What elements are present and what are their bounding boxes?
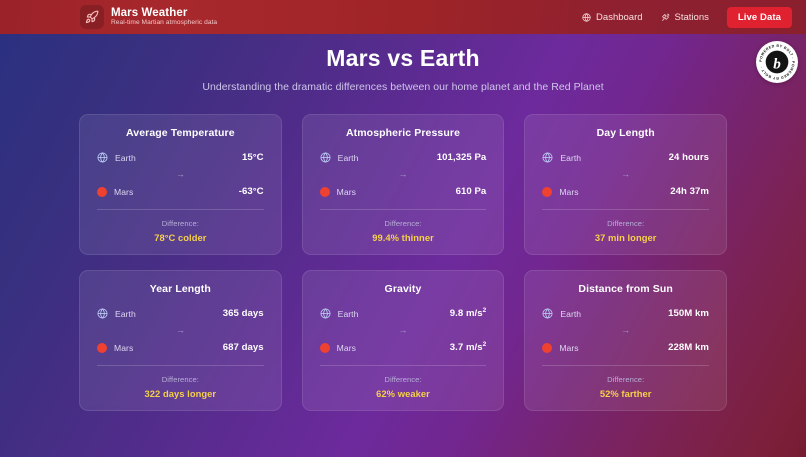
earth-row: Earth 150M km xyxy=(542,308,709,319)
earth-value: 24 hours xyxy=(669,152,709,163)
mars-row: Mars 24h 37m xyxy=(542,186,709,197)
difference-value: 37 min longer xyxy=(542,232,709,243)
difference-value: 78°C colder xyxy=(97,232,264,243)
card-divider xyxy=(320,209,487,210)
earth-value: 150M km xyxy=(668,308,709,319)
page-title: Mars vs Earth xyxy=(0,45,806,72)
mars-icon xyxy=(320,187,330,197)
comparison-card: Average Temperature Earth 15°C → Mars xyxy=(79,114,282,255)
earth-row: Earth 365 days xyxy=(97,308,264,319)
satellite-icon xyxy=(661,13,670,22)
mars-icon xyxy=(320,343,330,353)
mars-value: 228M km xyxy=(668,342,709,353)
mars-icon xyxy=(542,187,552,197)
card-divider xyxy=(320,365,487,366)
earth-label: Earth xyxy=(115,153,136,163)
nav-item-dashboard-label: Dashboard xyxy=(596,12,642,23)
mars-value: 610 Pa xyxy=(456,186,487,197)
live-data-button[interactable]: Live Data xyxy=(727,7,792,28)
earth-row: Earth 101,325 Pa xyxy=(320,152,487,163)
card-divider xyxy=(97,209,264,210)
mars-value: 24h 37m xyxy=(670,186,709,197)
difference-label: Difference: xyxy=(97,375,264,384)
card-divider xyxy=(542,365,709,366)
earth-label: Earth xyxy=(560,153,581,163)
made-with-bolt-badge[interactable]: POWERED BY BOLT · POWERED BY BOLT · b xyxy=(756,41,798,83)
mars-row: Mars 228M km xyxy=(542,342,709,353)
nav-item-stations[interactable]: Stations xyxy=(661,12,709,23)
brand-subtitle: Real-time Martian atmospheric data xyxy=(111,20,217,27)
earth-value: 365 days xyxy=(223,308,264,319)
earth-icon xyxy=(97,152,108,163)
earth-value: 15°C xyxy=(242,152,264,163)
comparison-card: Day Length Earth 24 hours → Mars 2 xyxy=(524,114,727,255)
card-title: Year Length xyxy=(97,283,264,295)
comparison-arrow-icon: → xyxy=(97,319,264,342)
bolt-badge-icon: POWERED BY BOLT · POWERED BY BOLT · b xyxy=(756,41,798,83)
difference-label: Difference: xyxy=(542,375,709,384)
mars-label: Mars xyxy=(559,343,578,353)
app-header: Mars Weather Real-time Martian atmospher… xyxy=(0,0,806,34)
earth-value: 9.8 m/s2 xyxy=(450,308,487,319)
mars-row: Mars 687 days xyxy=(97,342,264,353)
mars-label: Mars xyxy=(114,343,133,353)
card-title: Average Temperature xyxy=(97,127,264,139)
mars-value: -63°C xyxy=(239,186,264,197)
nav-item-stations-label: Stations xyxy=(675,12,709,23)
card-title: Day Length xyxy=(542,127,709,139)
difference-label: Difference: xyxy=(320,219,487,228)
card-title: Gravity xyxy=(320,283,487,295)
earth-icon xyxy=(320,308,331,319)
mars-label: Mars xyxy=(559,187,578,197)
earth-label: Earth xyxy=(338,153,359,163)
mars-icon xyxy=(97,343,107,353)
globe-icon xyxy=(582,13,591,22)
earth-label: Earth xyxy=(560,309,581,319)
card-title: Atmospheric Pressure xyxy=(320,127,487,139)
main-nav: Dashboard Stations Live Data xyxy=(582,7,792,28)
difference-value: 99.4% thinner xyxy=(320,232,487,243)
earth-label: Earth xyxy=(338,309,359,319)
card-divider xyxy=(542,209,709,210)
nav-item-dashboard[interactable]: Dashboard xyxy=(582,12,642,23)
comparison-card: Distance from Sun Earth 150M km → Mars xyxy=(524,270,727,411)
mars-icon xyxy=(542,343,552,353)
brand-title: Mars Weather xyxy=(111,7,217,19)
comparison-card: Atmospheric Pressure Earth 101,325 Pa → … xyxy=(302,114,505,255)
comparison-arrow-icon: → xyxy=(542,319,709,342)
earth-row: Earth 9.8 m/s2 xyxy=(320,308,487,319)
difference-value: 322 days longer xyxy=(97,388,264,399)
comparison-card: Year Length Earth 365 days → Mars xyxy=(79,270,282,411)
mars-row: Mars -63°C xyxy=(97,186,264,197)
rocket-icon xyxy=(80,5,104,29)
comparison-arrow-icon: → xyxy=(97,163,264,186)
mars-icon xyxy=(97,187,107,197)
difference-label: Difference: xyxy=(97,219,264,228)
mars-value: 3.7 m/s2 xyxy=(450,342,487,353)
mars-label: Mars xyxy=(337,187,356,197)
comparison-card: Gravity Earth 9.8 m/s2 → Mars 3.7 xyxy=(302,270,505,411)
hero-section: Mars vs Earth Understanding the dramatic… xyxy=(0,34,806,93)
earth-label: Earth xyxy=(115,309,136,319)
comparison-grid: Average Temperature Earth 15°C → Mars xyxy=(79,114,727,411)
comparison-arrow-icon: → xyxy=(542,163,709,186)
earth-icon xyxy=(542,308,553,319)
comparison-arrow-icon: → xyxy=(320,319,487,342)
mars-row: Mars 3.7 m/s2 xyxy=(320,342,487,353)
card-divider xyxy=(97,365,264,366)
earth-row: Earth 24 hours xyxy=(542,152,709,163)
earth-icon xyxy=(97,308,108,319)
difference-label: Difference: xyxy=(320,375,487,384)
page-subtitle: Understanding the dramatic differences b… xyxy=(0,81,806,93)
earth-value: 101,325 Pa xyxy=(437,152,487,163)
mars-row: Mars 610 Pa xyxy=(320,186,487,197)
mars-label: Mars xyxy=(114,187,133,197)
mars-value: 687 days xyxy=(223,342,264,353)
difference-value: 52% farther xyxy=(542,388,709,399)
difference-value: 62% weaker xyxy=(320,388,487,399)
mars-label: Mars xyxy=(337,343,356,353)
comparison-arrow-icon: → xyxy=(320,163,487,186)
difference-label: Difference: xyxy=(542,219,709,228)
svg-text:b: b xyxy=(773,56,781,72)
card-title: Distance from Sun xyxy=(542,283,709,295)
earth-icon xyxy=(542,152,553,163)
earth-row: Earth 15°C xyxy=(97,152,264,163)
brand[interactable]: Mars Weather Real-time Martian atmospher… xyxy=(80,5,217,29)
earth-icon xyxy=(320,152,331,163)
